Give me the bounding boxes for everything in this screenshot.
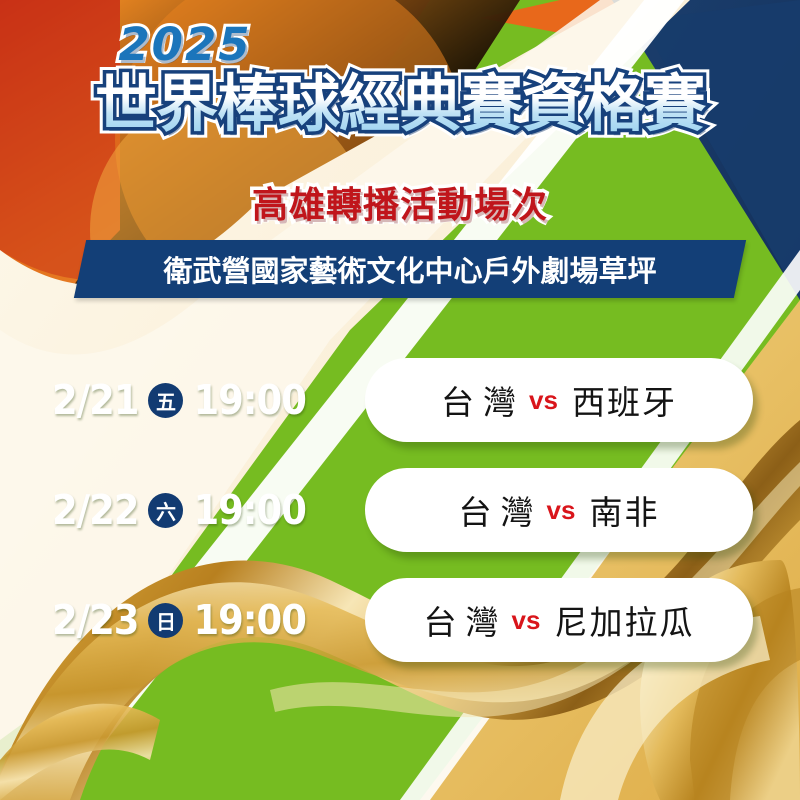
weekday-badge: 五 <box>148 383 183 418</box>
date-time-cell: 2/23 日 19:00 <box>0 596 340 644</box>
match-time: 19:00 <box>193 486 305 534</box>
gold-tail-bottom-left <box>0 704 160 800</box>
match-time: 19:00 <box>193 596 305 644</box>
home-team: 台灣 <box>424 596 508 644</box>
date-time-cell: 2/21 五 19:00 <box>0 376 340 424</box>
year-label: 2025 <box>118 22 251 67</box>
subtitle: 高雄轉播活動場次 <box>0 176 800 228</box>
weekday-badge: 六 <box>148 493 183 528</box>
main-title-fill: 世界棒球經典賽資格賽 <box>0 65 800 143</box>
poster-canvas: 2025 世界棒球經典賽資格賽 世界棒球經典賽資格賽 世界棒球經典賽資格賽 高雄… <box>0 0 800 800</box>
title-block: 2025 世界棒球經典賽資格賽 世界棒球經典賽資格賽 世界棒球經典賽資格賽 <box>0 22 800 143</box>
vs-label: vs <box>547 495 576 526</box>
vs-label: vs <box>529 385 558 416</box>
venue-label: 衛武營國家藝術文化中心戶外劇場草坪 <box>80 240 740 298</box>
schedule-row: 2/21 五 19:00 台灣 vs 西班牙 <box>0 345 800 455</box>
main-title: 世界棒球經典賽資格賽 世界棒球經典賽資格賽 世界棒球經典賽資格賽 <box>0 65 800 143</box>
match-date: 2/23 <box>52 596 138 644</box>
match-date: 2/21 <box>52 376 138 424</box>
weekday-badge: 日 <box>148 603 183 638</box>
away-team: 尼加拉瓜 <box>554 596 694 644</box>
away-team: 西班牙 <box>572 376 677 424</box>
matchup-pill[interactable]: 台灣 vs 南非 <box>365 468 753 552</box>
date-time-cell: 2/22 六 19:00 <box>0 486 340 534</box>
matchup-pill[interactable]: 台灣 vs 尼加拉瓜 <box>365 578 753 662</box>
matchup-pill[interactable]: 台灣 vs 西班牙 <box>365 358 753 442</box>
vs-label: vs <box>512 605 541 636</box>
away-team: 南非 <box>589 486 659 534</box>
schedule-list: 2/21 五 19:00 台灣 vs 西班牙 2/22 六 19:00 台灣 v… <box>0 345 800 675</box>
match-date: 2/22 <box>52 486 138 534</box>
home-team: 台灣 <box>459 486 543 534</box>
match-time: 19:00 <box>193 376 305 424</box>
schedule-row: 2/22 六 19:00 台灣 vs 南非 <box>0 455 800 565</box>
home-team: 台灣 <box>441 376 525 424</box>
schedule-row: 2/23 日 19:00 台灣 vs 尼加拉瓜 <box>0 565 800 675</box>
